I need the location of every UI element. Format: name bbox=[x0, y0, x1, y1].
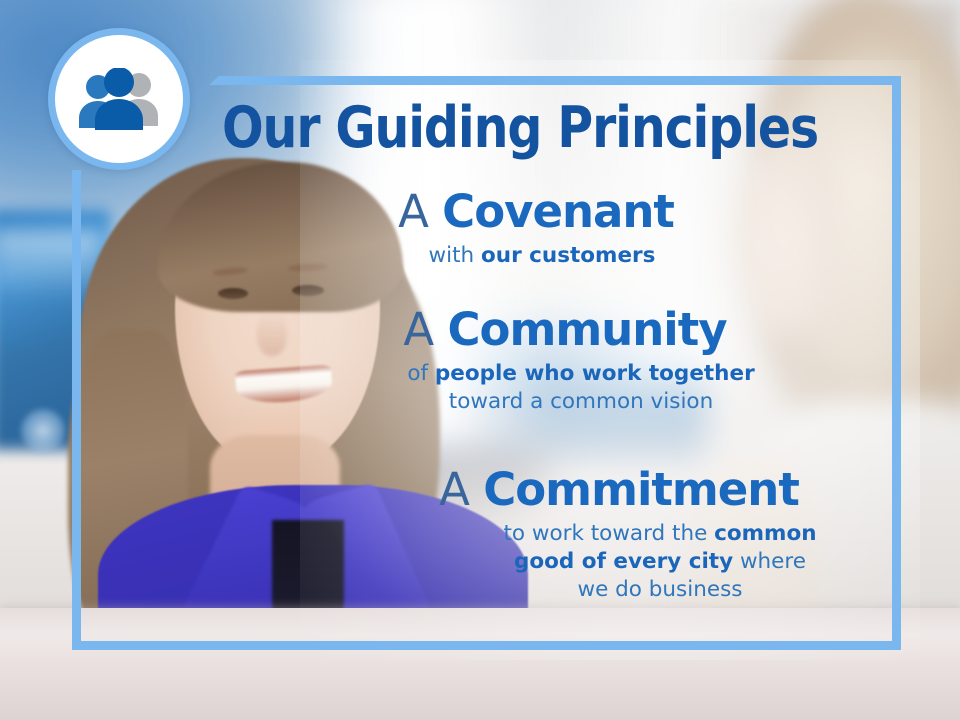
principle-commitment-word: Commitment bbox=[483, 463, 799, 516]
principle-community-sub-bold: people who work together bbox=[435, 361, 755, 386]
principle-community-word: Community bbox=[448, 303, 727, 356]
page-title: Our Guiding Principles bbox=[222, 100, 818, 157]
principle-commitment-sub-line2-bold: good of every city bbox=[514, 549, 733, 574]
principle-commitment-heading: A Commitment bbox=[200, 466, 890, 514]
employee-eye-right bbox=[292, 285, 324, 296]
principle-covenant-heading: A Covenant bbox=[200, 188, 890, 236]
principle-community-heading: A Community bbox=[200, 306, 890, 354]
principle-commitment-sub-line1: to work toward the common bbox=[430, 520, 890, 548]
principle-commitment: A Commitment to work toward the common g… bbox=[200, 466, 890, 605]
principle-covenant-subtext: with our customers bbox=[200, 242, 890, 270]
principle-commitment-article: A bbox=[439, 463, 469, 516]
principle-covenant-sub-regular: with bbox=[429, 243, 481, 268]
principle-commitment-sub-bold: common bbox=[714, 521, 816, 546]
people-badge bbox=[48, 28, 190, 170]
principle-covenant: A Covenant with our customers bbox=[200, 188, 890, 270]
principle-covenant-article: A bbox=[398, 185, 428, 238]
principle-covenant-word: Covenant bbox=[442, 185, 674, 238]
principle-commitment-sub-line2-regular: where bbox=[733, 549, 806, 574]
desk-surface bbox=[0, 608, 960, 720]
principle-commitment-sub-regular: to work toward the bbox=[503, 521, 714, 546]
people-group-icon bbox=[76, 68, 162, 130]
principle-commitment-subtext: to work toward the common good of every … bbox=[200, 520, 890, 605]
principle-commitment-sub-line3: we do business bbox=[430, 576, 890, 604]
principle-community-subtext: of people who work together toward a com… bbox=[200, 360, 890, 417]
principle-commitment-sub-line2: good of every city where bbox=[430, 548, 890, 576]
principle-community-sub-line2: toward a common vision bbox=[272, 388, 890, 416]
principle-community-article: A bbox=[403, 303, 433, 356]
principle-community-sub-line1: of people who work together bbox=[272, 360, 890, 388]
principle-covenant-sub-bold: our customers bbox=[481, 243, 655, 268]
principle-community: A Community of people who work together … bbox=[200, 306, 890, 416]
employee-eye-left bbox=[218, 288, 248, 299]
principle-community-sub-regular: of bbox=[407, 361, 435, 386]
guiding-principles-graphic: FLOW FLOW bbox=[0, 0, 960, 720]
